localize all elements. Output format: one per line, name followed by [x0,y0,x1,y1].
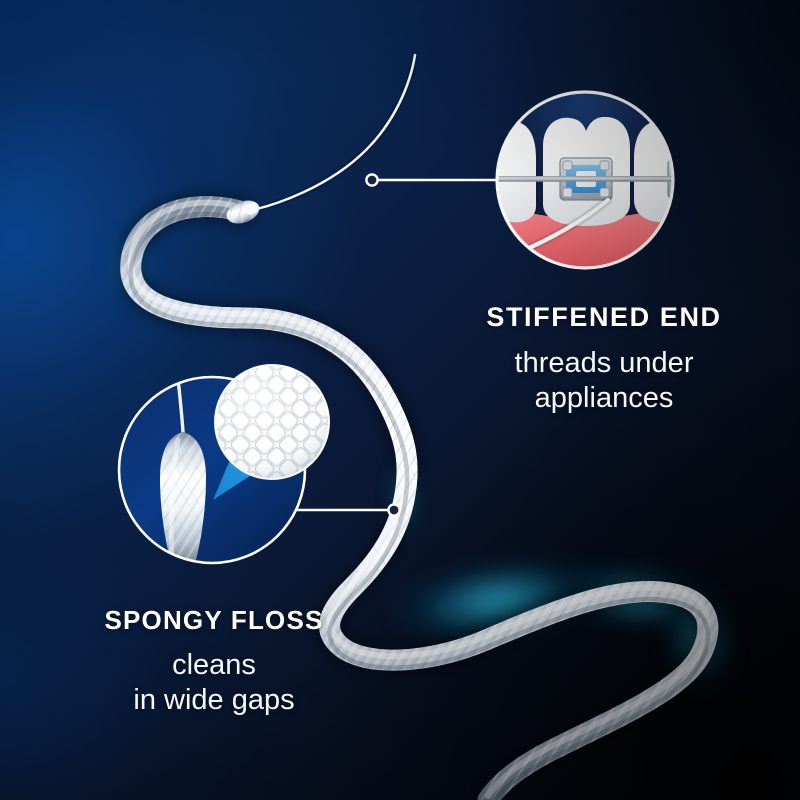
infographic-canvas: STIFFENED END threads under appliances S… [0,0,800,800]
callout-stiffened-end: STIFFENED END threads under appliances [404,303,800,416]
callout-spongy-heading: SPONGY FLOSS [14,606,414,635]
callout-spongy-floss: SPONGY FLOSS cleans in wide gaps [14,606,414,718]
callout-stiffened-subline-1: threads under [404,346,800,381]
callout-spongy-subline-2: in wide gaps [14,683,414,718]
callout-stiffened-subline-2: appliances [404,381,800,416]
callout-spongy-subtext: cleans in wide gaps [14,648,414,719]
callout-stiffened-subtext: threads under appliances [404,346,800,417]
callout-stiffened-heading: STIFFENED END [404,303,800,333]
callout-spongy-subline-1: cleans [14,648,414,683]
